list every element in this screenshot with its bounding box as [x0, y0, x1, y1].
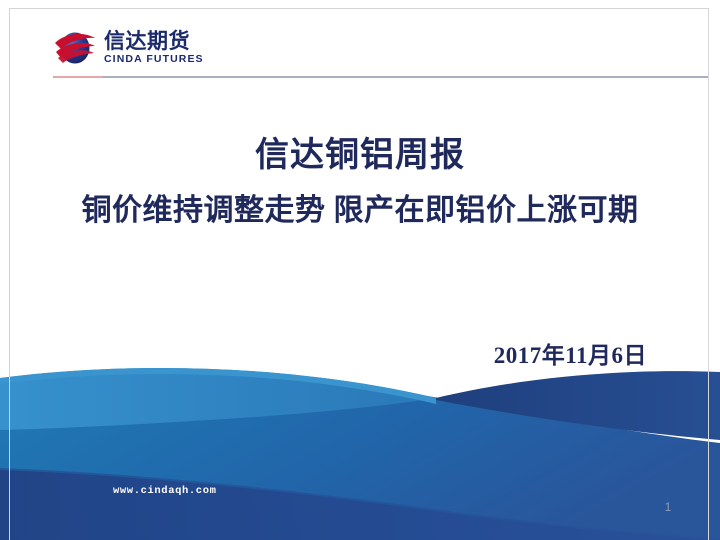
slide-frame-top	[9, 8, 709, 9]
header-divider-accent	[53, 76, 103, 78]
wave-decoration	[0, 0, 720, 540]
header-divider-line	[103, 76, 708, 78]
company-logo: 信达期货 CINDA FUTURES	[53, 27, 204, 69]
slide-frame-right	[708, 8, 709, 540]
slide-frame-left	[9, 8, 10, 540]
logo-wordmark: 信达期货 CINDA FUTURES	[104, 31, 204, 65]
footer-website-url: www.cindaqh.com	[113, 485, 217, 497]
report-date: 2017年11月6日	[0, 336, 647, 370]
logo-name-en: CINDA FUTURES	[104, 54, 204, 65]
logo-name-cn: 信达期货	[104, 31, 204, 52]
cinda-globe-logo-icon	[53, 27, 97, 69]
header-divider	[53, 76, 708, 78]
title-block: 信达铜铝周报 铜价维持调整走势 限产在即铝价上涨可期	[0, 136, 720, 229]
slide-page-number: 1	[655, 500, 681, 514]
page-title: 信达铜铝周报	[0, 136, 720, 177]
presentation-slide: 信达期货 CINDA FUTURES 信达铜铝周报 铜价维持调整走势 限产在即铝…	[0, 0, 720, 540]
page-subtitle: 铜价维持调整走势 限产在即铝价上涨可期	[0, 193, 720, 229]
